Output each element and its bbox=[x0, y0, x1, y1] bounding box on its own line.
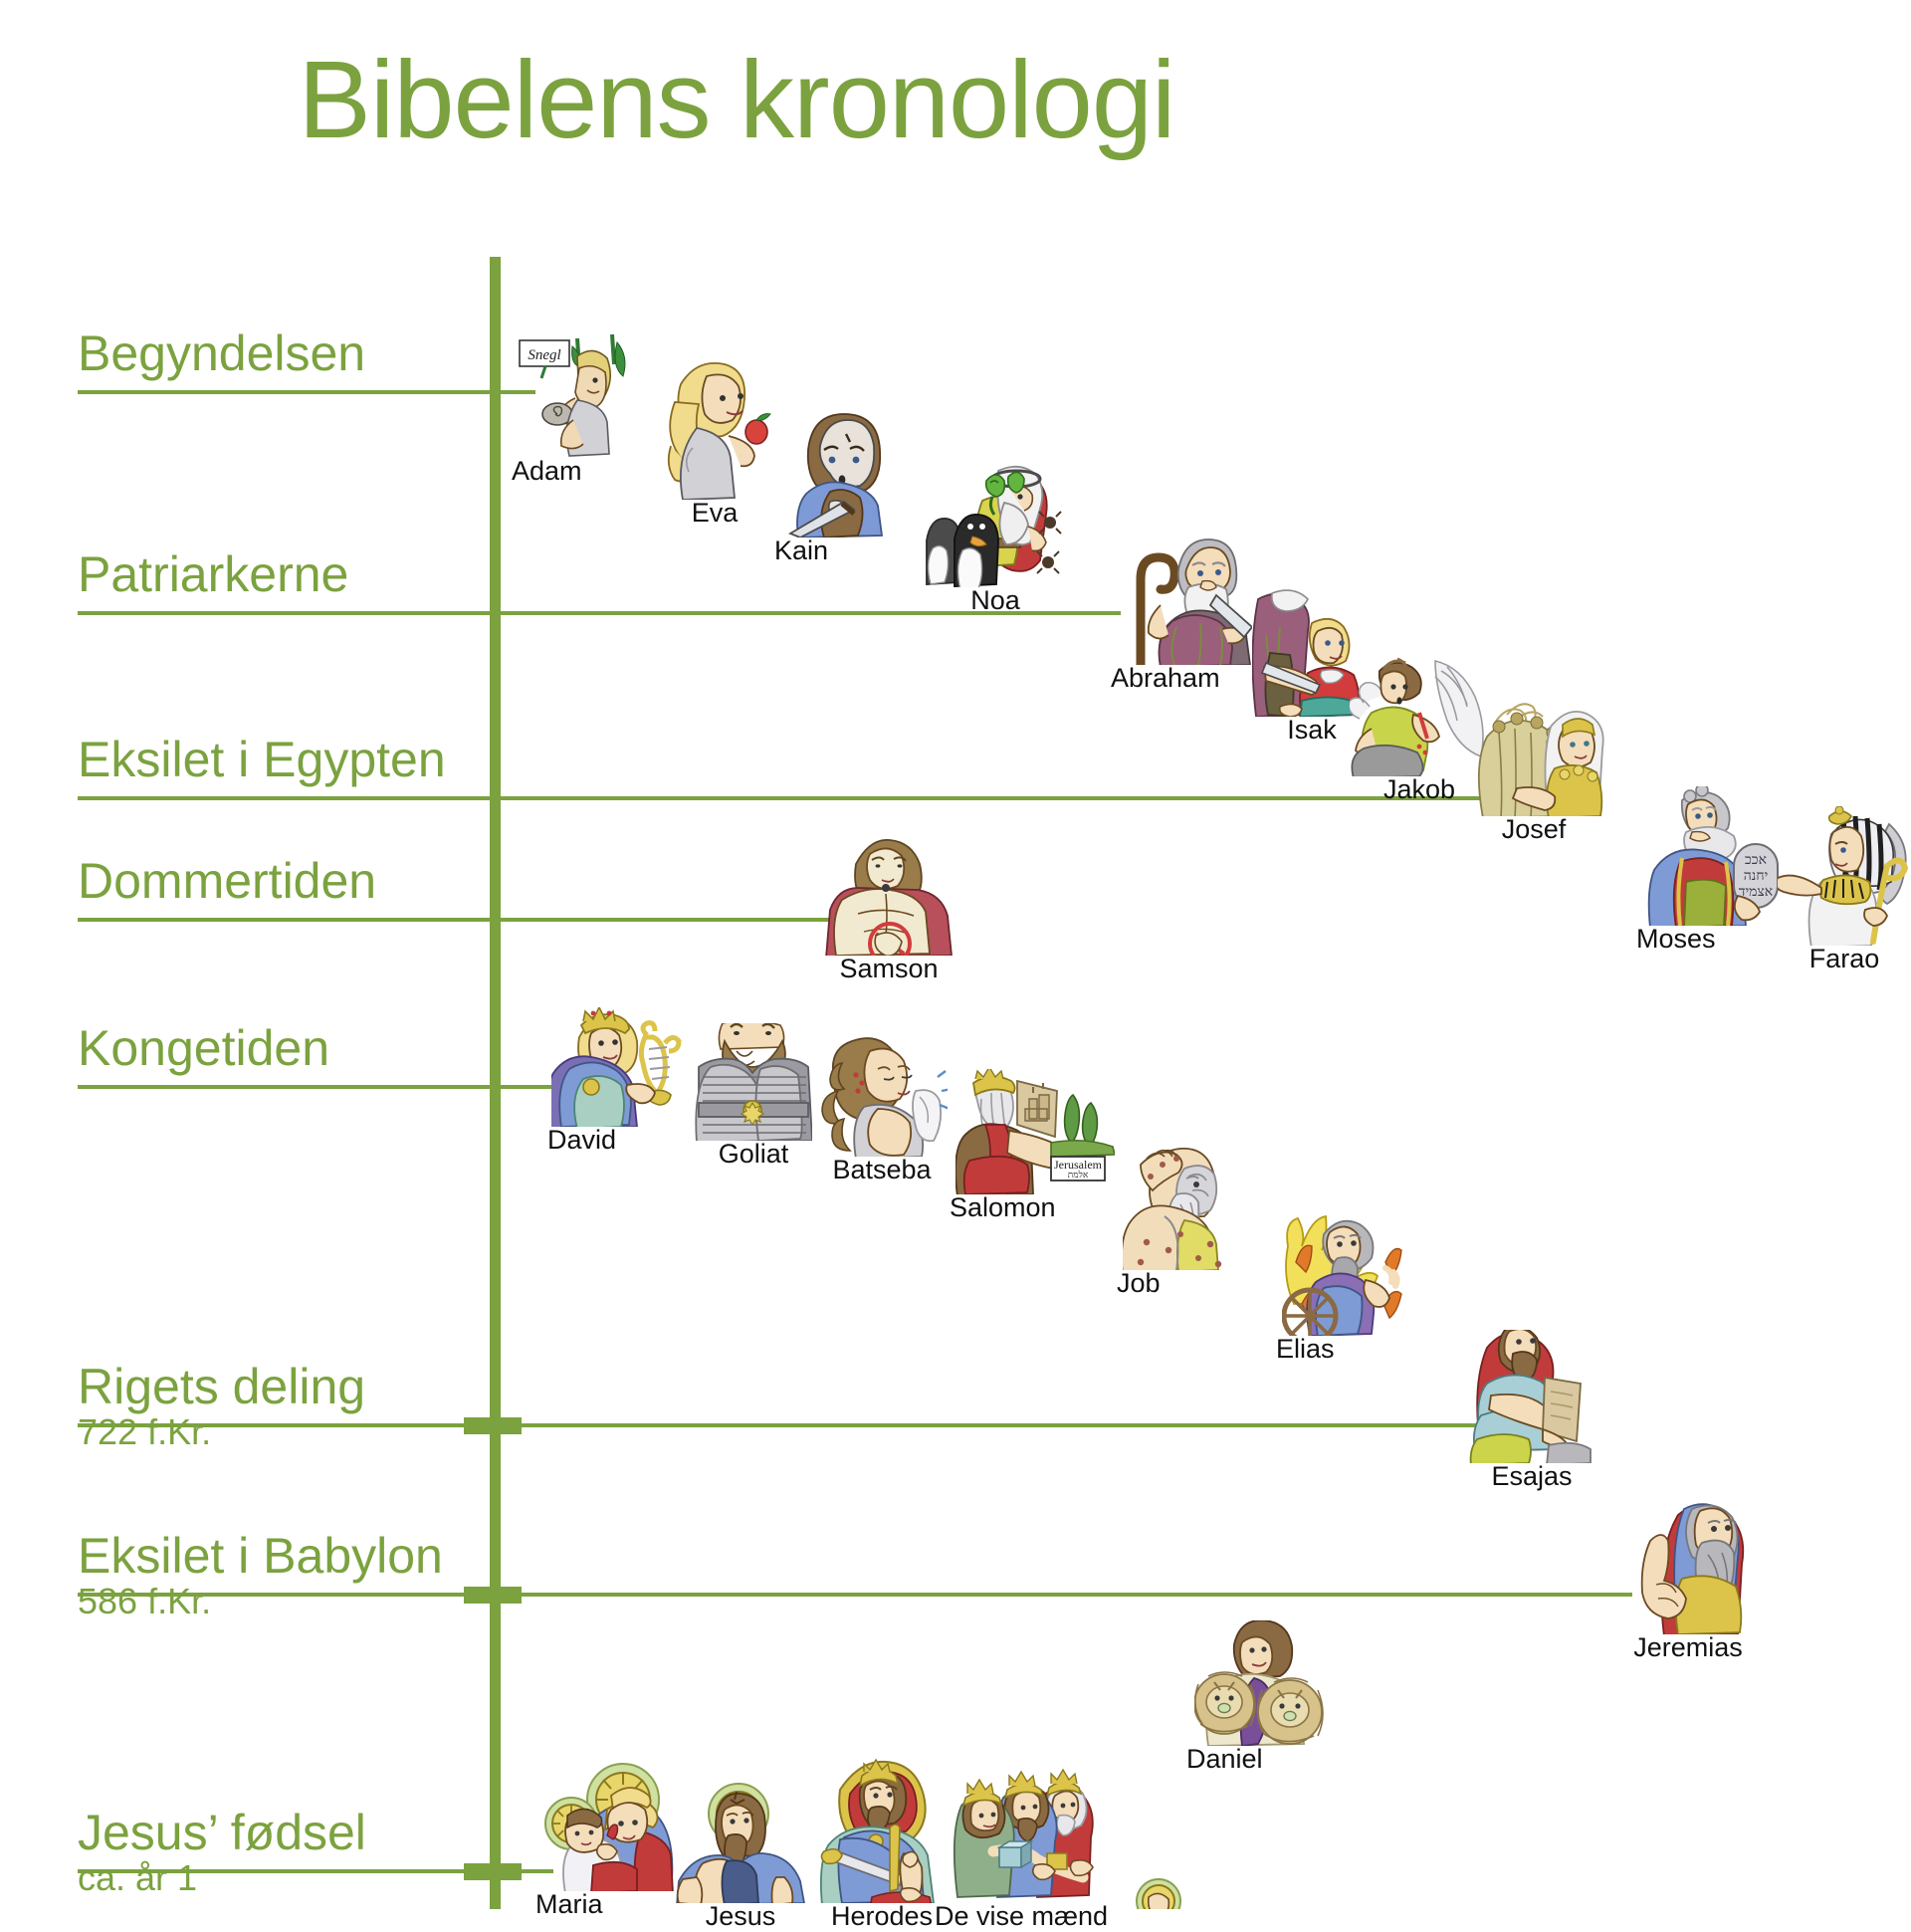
jeremias-figure bbox=[1622, 1501, 1754, 1634]
figure-label: Abraham bbox=[1111, 663, 1220, 694]
timeline-axis bbox=[490, 257, 501, 1909]
svg-text:אלמת: אלמת bbox=[1068, 1170, 1089, 1180]
figure-label: Farao bbox=[1809, 944, 1880, 974]
figure-daniel[interactable]: Daniel bbox=[1194, 1620, 1334, 1746]
era-rule-patriarkerne bbox=[78, 611, 1121, 615]
era-name: Jesus’ fødsel bbox=[78, 1808, 366, 1858]
job-figure bbox=[1123, 1147, 1246, 1270]
moses-figure: אככ יחנה אצמיד bbox=[1640, 786, 1786, 926]
era-date: ca. år 1 bbox=[78, 1860, 366, 1897]
daniel-figure bbox=[1194, 1620, 1334, 1746]
figure-label: Elias bbox=[1276, 1334, 1335, 1365]
era-name: Patriarkerne bbox=[78, 549, 348, 600]
adam-sign-text: Snegl bbox=[528, 347, 560, 363]
era-date: 586 f.Kr. bbox=[78, 1584, 443, 1620]
figure-label: Kain bbox=[774, 536, 828, 566]
figure-label: Moses bbox=[1636, 924, 1716, 955]
figure-label: David bbox=[547, 1125, 616, 1156]
era-label-eksilet-babylon[interactable]: Eksilet i Babylon 586 f.Kr. bbox=[78, 1531, 443, 1620]
figure-label: Daniel bbox=[1186, 1744, 1263, 1775]
era-label-patriarkerne[interactable]: Patriarkerne bbox=[78, 549, 348, 600]
figure-label: Noa bbox=[970, 585, 1020, 616]
era-label-kongetiden[interactable]: Kongetiden bbox=[78, 1023, 329, 1074]
figure-esajas[interactable]: Esajas bbox=[1465, 1330, 1598, 1463]
figure-josef[interactable]: Josef bbox=[1459, 697, 1608, 816]
figure-label: Herodes bbox=[831, 1901, 933, 1932]
figure-label: Jakob bbox=[1383, 774, 1455, 805]
era-tick-rigets-deling bbox=[464, 1417, 522, 1434]
farao-figure bbox=[1778, 806, 1911, 946]
figure-label: Eva bbox=[692, 498, 739, 529]
era-label-begyndelsen[interactable]: Begyndelsen bbox=[78, 328, 365, 379]
era-label-dommertiden[interactable]: Dommertiden bbox=[78, 856, 376, 907]
figure-label: Esajas bbox=[1491, 1461, 1572, 1492]
era-name: Kongetiden bbox=[78, 1023, 329, 1074]
figure-farao[interactable]: Farao bbox=[1778, 806, 1911, 946]
figure-label: Josef bbox=[1502, 814, 1567, 845]
era-name: Begyndelsen bbox=[78, 328, 365, 379]
figure-jesus[interactable]: Jesus bbox=[673, 1782, 808, 1903]
eva-figure bbox=[645, 350, 784, 500]
goliat-figure bbox=[695, 1023, 812, 1141]
figure-batseba[interactable]: Batseba bbox=[816, 1035, 948, 1157]
figure-label: Salomon bbox=[950, 1192, 1056, 1223]
figure-label: Adam bbox=[512, 456, 582, 487]
de-vise-maend-figure bbox=[948, 1762, 1095, 1903]
kain-figure bbox=[786, 410, 906, 537]
partial-halo-figure bbox=[1129, 1877, 1188, 1909]
david-figure bbox=[551, 1007, 687, 1127]
era-rule-eksilet-egypten bbox=[78, 796, 1501, 800]
era-name: Rigets deling bbox=[78, 1362, 365, 1412]
figure-label: Maria bbox=[535, 1889, 603, 1920]
figure-label: Goliat bbox=[719, 1139, 789, 1170]
figure-abraham[interactable]: Abraham bbox=[1117, 536, 1252, 665]
figure-label: Batseba bbox=[832, 1155, 931, 1185]
noa-figure bbox=[921, 453, 1070, 587]
page-title: Bibelens kronologi bbox=[0, 40, 1473, 160]
figure-jeremias[interactable]: Jeremias bbox=[1622, 1501, 1754, 1634]
svg-text:אככ: אככ bbox=[1745, 853, 1767, 868]
era-name: Dommertiden bbox=[78, 856, 376, 907]
josef-figure bbox=[1459, 697, 1608, 816]
era-rule-dommertiden bbox=[78, 918, 834, 922]
adam-figure: Snegl bbox=[518, 328, 657, 458]
batseba-figure bbox=[816, 1035, 948, 1157]
era-date: 722 f.Kr. bbox=[78, 1414, 365, 1451]
figure-label: Jesus bbox=[706, 1901, 776, 1932]
esajas-figure bbox=[1465, 1330, 1598, 1463]
figure-label: Samson bbox=[839, 954, 938, 984]
figure-label: Isak bbox=[1287, 715, 1337, 746]
figure-goliat[interactable]: Goliat bbox=[695, 1023, 812, 1141]
era-rule-begyndelsen bbox=[78, 390, 535, 394]
figure-kain[interactable]: Kain bbox=[786, 410, 906, 537]
era-rule-kongetiden bbox=[78, 1085, 555, 1089]
figure-de-vise-maend[interactable]: De vise mænd bbox=[948, 1762, 1095, 1903]
era-tick-eksilet-babylon bbox=[464, 1587, 522, 1604]
figure-noa[interactable]: Noa bbox=[921, 453, 1070, 587]
figure-label: Job bbox=[1117, 1268, 1161, 1299]
samson-figure bbox=[824, 836, 954, 956]
figure-label: Jeremias bbox=[1633, 1632, 1743, 1663]
elias-figure bbox=[1282, 1206, 1415, 1336]
figure-elias[interactable]: Elias bbox=[1282, 1206, 1415, 1336]
era-label-jesus-foedsel[interactable]: Jesus’ fødsel ca. år 1 bbox=[78, 1808, 366, 1897]
figure-label: De vise mænd bbox=[935, 1901, 1108, 1932]
era-name: Eksilet i Egypten bbox=[78, 735, 446, 785]
era-tick-jesus-foedsel bbox=[464, 1863, 522, 1880]
era-label-rigets-deling[interactable]: Rigets deling 722 f.Kr. bbox=[78, 1362, 365, 1451]
svg-text:יחנה: יחנה bbox=[1744, 869, 1769, 884]
jesus-figure bbox=[673, 1782, 808, 1903]
salomon-figure: Jerusalem אלמת bbox=[955, 1069, 1115, 1194]
era-name: Eksilet i Babylon bbox=[78, 1531, 443, 1582]
figure-eva[interactable]: Eva bbox=[645, 350, 784, 500]
abraham-figure bbox=[1117, 536, 1252, 665]
figure-salomon[interactable]: Jerusalem אלמת Salomon bbox=[955, 1069, 1115, 1194]
figure-samson[interactable]: Samson bbox=[824, 836, 954, 956]
figure-adam[interactable]: Snegl Adam bbox=[518, 328, 657, 458]
herodes-figure bbox=[818, 1758, 946, 1903]
figure-partial-bottom bbox=[1129, 1877, 1188, 1909]
figure-job[interactable]: Job bbox=[1123, 1147, 1246, 1270]
figure-moses[interactable]: אככ יחנה אצמיד Moses bbox=[1640, 786, 1786, 926]
figure-herodes[interactable]: Herodes bbox=[818, 1758, 946, 1903]
era-label-eksilet-egypten[interactable]: Eksilet i Egypten bbox=[78, 735, 446, 785]
figure-david[interactable]: David bbox=[551, 1007, 687, 1127]
